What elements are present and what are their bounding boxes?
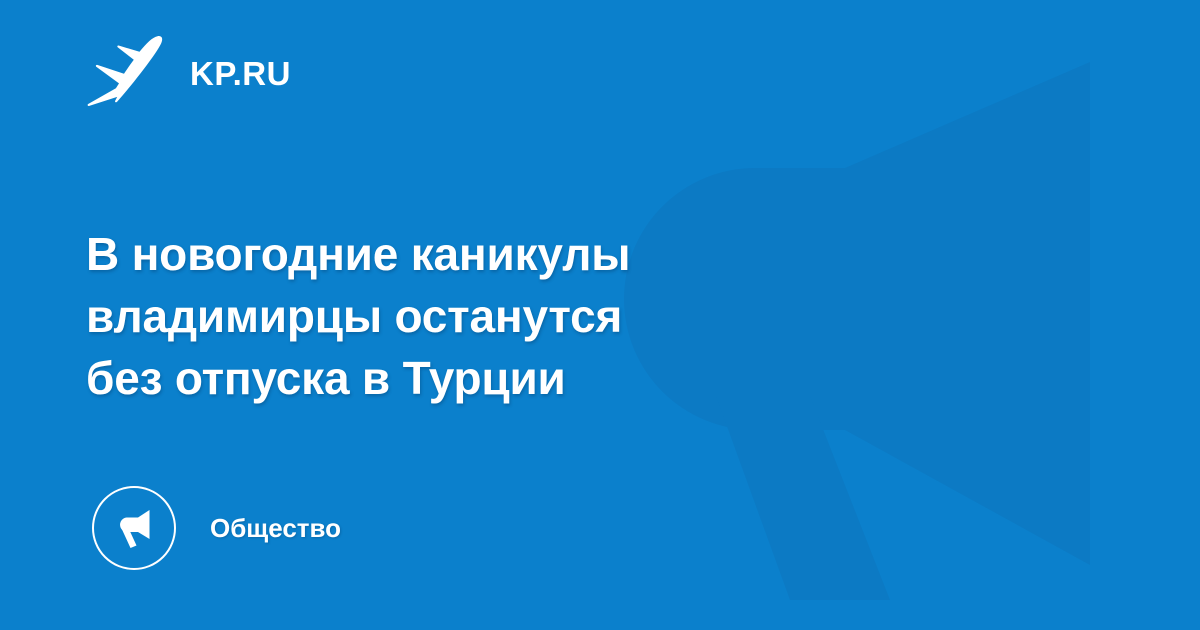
category-badge[interactable]: Общество: [92, 486, 341, 570]
social-share-card: KP.RU В новогодние каникулы владимирцы о…: [0, 0, 1200, 630]
brand-name: KP.RU: [190, 57, 291, 90]
megaphone-icon: [111, 505, 157, 551]
megaphone-icon-circle: [92, 486, 176, 570]
category-label: Общество: [210, 515, 341, 541]
brand-logo[interactable]: KP.RU: [86, 32, 291, 112]
headline-line-2: владимирцы останутся: [86, 285, 886, 347]
page-title: В новогодние каникулы владимирцы останут…: [86, 223, 886, 409]
headline-line-3: без отпуска в Турции: [86, 347, 886, 409]
swallow-bird-icon: [86, 33, 172, 111]
headline-line-1: В новогодние каникулы: [86, 223, 886, 285]
